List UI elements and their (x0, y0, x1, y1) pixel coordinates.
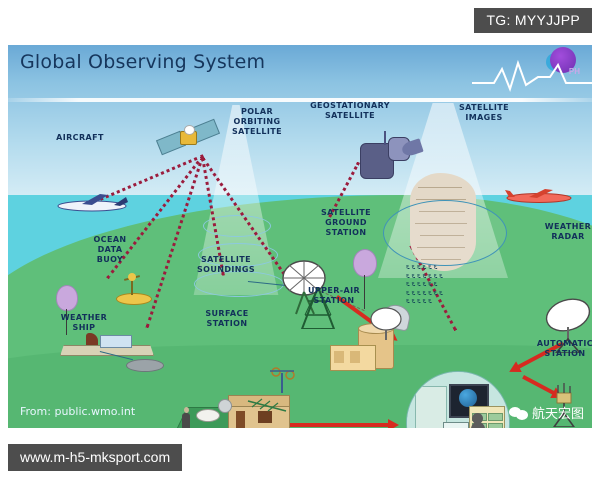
rain-row: ૬૬૬૬૬૬૬ (406, 289, 516, 298)
observing-system-poster: Global Observing System PH (8, 45, 592, 428)
aircraft-red-icon (505, 187, 573, 205)
page-title: Global Observing System (20, 51, 265, 73)
label-upper-air-station: UPPER-AIR STATION (302, 286, 366, 306)
ecg-line-icon (472, 59, 592, 93)
rain-row: ૬૬૬૬૬૬ (406, 280, 516, 289)
rain-row: ૬૬૬૬૬ (406, 297, 516, 306)
upper-air-dish-icon (370, 307, 406, 341)
satellite-footprint-ellipse (383, 200, 507, 266)
rain-row: ૬૬૬૬૬૬૬ (406, 272, 516, 281)
brand-label: 航天宏图 (532, 403, 584, 422)
source-attribution: From: public.wmo.int (20, 405, 135, 418)
label-aircraft: AIRCRAFT (48, 133, 112, 143)
label-satellite-images: SATELLITE IMAGES (453, 103, 515, 123)
label-automatic-station: AUTOMATIC STATION (535, 339, 592, 359)
site-watermark: www.m-h5-mksport.com (8, 444, 182, 471)
rain-symbols: ૬૬૬૬૬૬ ૬૬૬૬૬૬૬ ૬૬૬૬૬૬ ૬૬૬૬૬૬૬ ૬૬૬૬૬ (406, 263, 516, 315)
label-satellite-ground-station: SATELLITE GROUND STATION (314, 208, 378, 238)
tg-badge: TG: MYYJJPP (474, 8, 592, 33)
horizon-band (8, 98, 592, 102)
anemometer-icon (266, 367, 298, 393)
label-geostationary-satellite: GEOSTATIONARY SATELLITE (304, 101, 396, 121)
upper-air-hut-icon (330, 335, 374, 369)
rain-row: ૬૬૬૬૬૬ (406, 263, 516, 272)
label-ocean-data-buoy: OCEAN DATA BUOY (82, 235, 138, 265)
globe-icon (459, 389, 477, 407)
polar-orbiting-satellite-icon (158, 121, 216, 165)
label-polar-orbiting-satellite: POLAR ORBITING SATELLITE (226, 107, 288, 137)
wechat-icon (509, 405, 528, 421)
ocean-data-buoy-icon (112, 275, 152, 303)
surface-antenna-icon (246, 397, 288, 419)
geostationary-satellite-icon (360, 135, 424, 187)
forecast-office-illustration (406, 371, 510, 428)
brand-watermark: 航天宏图 (509, 403, 584, 422)
label-satellite-soundings: SATELLITE SOUNDINGS (190, 255, 262, 275)
aircraft-blue-icon (56, 193, 130, 215)
label-weather-radar: WEATHER RADAR (539, 222, 592, 242)
label-weather-ship: WEATHER SHIP (52, 313, 116, 333)
label-surface-station: SURFACE STATION (196, 309, 258, 329)
balloon-ocean-icon (56, 285, 78, 311)
balloon-upper-air-icon (353, 249, 377, 277)
